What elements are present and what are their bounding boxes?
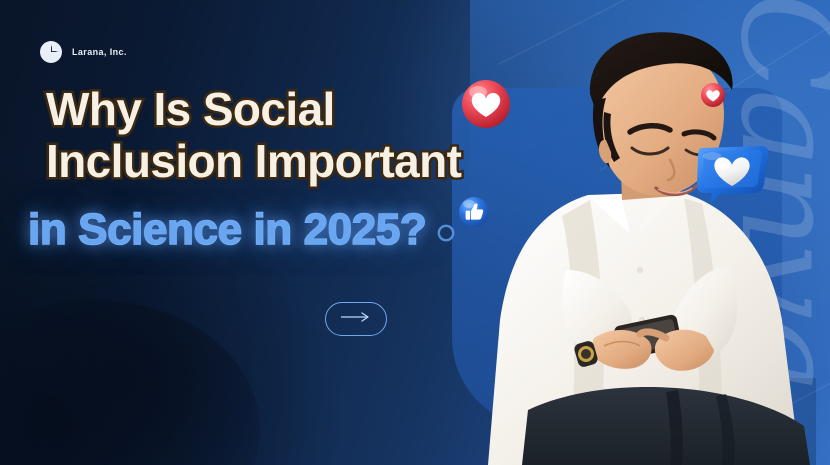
heart-reaction-small <box>700 82 726 108</box>
man-using-phone-photo <box>470 20 820 465</box>
brand-name: Larana, Inc. <box>72 47 127 57</box>
brand-logo[interactable]: Larana, Inc. <box>40 41 127 63</box>
headline-block: Why Is Social Inclusion Important <box>46 84 486 187</box>
social-banner: Canva <box>0 0 830 465</box>
circle-wedge-logo-icon <box>40 41 62 63</box>
headline-line-2: Inclusion Important <box>46 136 486 188</box>
ring-reaction <box>437 224 455 242</box>
heart-bubble-reaction <box>692 140 772 206</box>
next-arrow-button[interactable] <box>325 302 387 336</box>
headline-line-3: in Science in 2025? <box>28 206 426 254</box>
thumbs-up-reaction <box>458 196 490 228</box>
arrow-right-icon <box>339 310 373 328</box>
headline-line-1: Why Is Social <box>46 84 486 136</box>
